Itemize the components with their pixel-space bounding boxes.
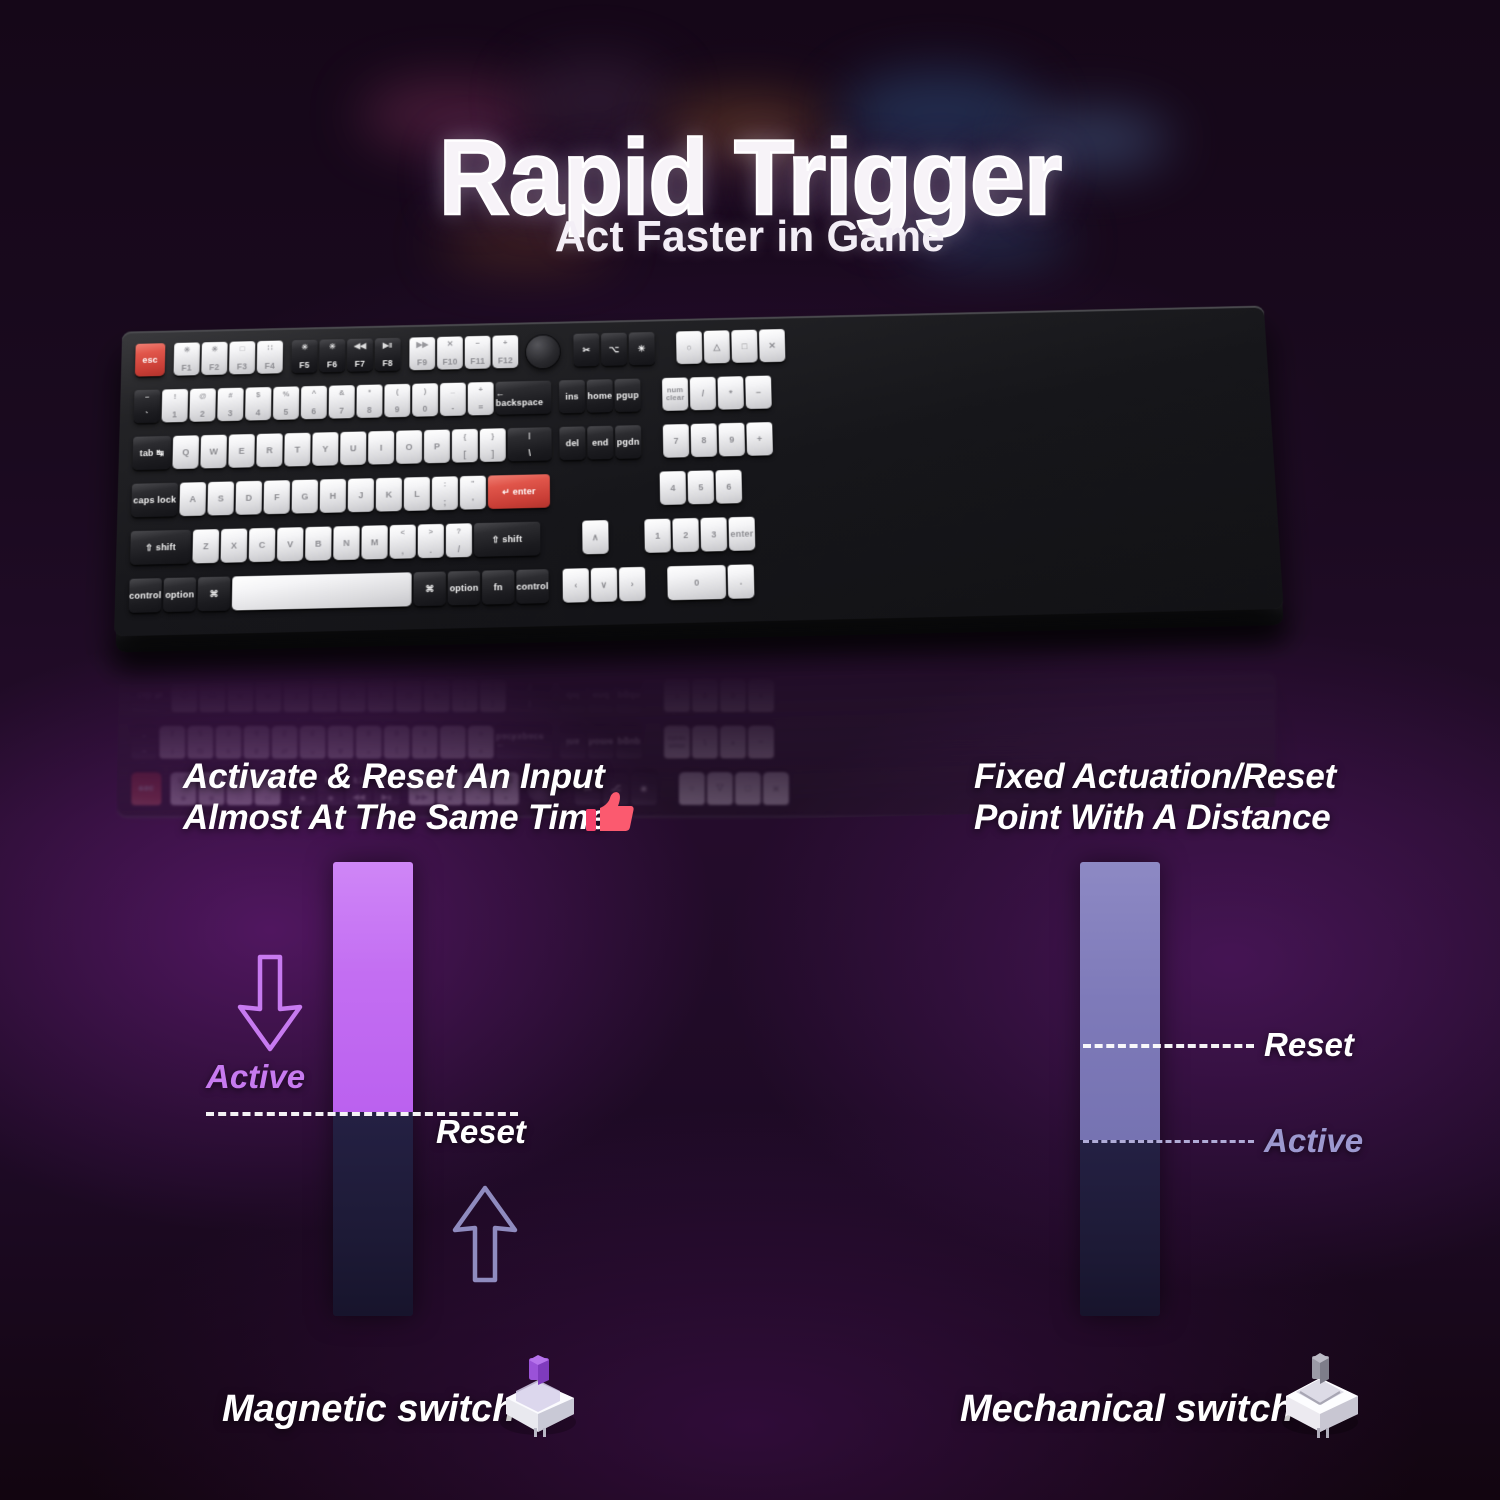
key-legend-primary: △ xyxy=(713,342,720,353)
key-legend-secondary: } xyxy=(480,700,506,709)
key-legend-primary: 4 xyxy=(670,483,675,493)
key-blank[interactable]: |\ xyxy=(508,679,552,712)
key-legend-secondary: ? xyxy=(446,526,472,536)
key-legend-primary: 4 xyxy=(245,407,271,417)
key-blank[interactable]: }] xyxy=(480,679,506,712)
key-legend-primary: Y xyxy=(322,691,328,701)
key-legend-primary: Q xyxy=(181,691,188,701)
mechanical-bar-inactive-zone xyxy=(1080,1140,1160,1316)
key-legend-primary: ✂ xyxy=(583,345,591,356)
key-legend-primary: pgup xyxy=(618,737,641,747)
keyboard-keys: esc☀F1☀F2□F3∷F4☀F5☀F6◀◀F7▶‖F8▶▶F9✕F10−F1… xyxy=(128,318,1271,627)
key-legend-primary: □ xyxy=(742,341,748,351)
key-blank[interactable]: >. xyxy=(418,524,444,558)
key-f5[interactable]: ☀F5 xyxy=(291,340,317,373)
key-legend-secondary: ) xyxy=(412,386,438,395)
key-del[interactable]: del xyxy=(560,679,586,712)
key-blank[interactable]: }] xyxy=(480,428,506,462)
key-f8[interactable]: ▶‖F8 xyxy=(375,338,401,371)
key-w[interactable]: W xyxy=(200,435,227,469)
key-0[interactable]: 0 xyxy=(667,565,726,600)
key-home[interactable]: home xyxy=(587,379,613,413)
key-legend-primary: = xyxy=(468,402,494,412)
key-legend-primary: ' xyxy=(460,496,486,506)
key-legend-secondary: { xyxy=(452,432,478,441)
key-blank[interactable] xyxy=(232,572,412,610)
key-f6[interactable]: ☀F6 xyxy=(319,339,345,372)
key-legend-primary: ∨ xyxy=(601,579,608,590)
key-legend-primary: F9 xyxy=(409,357,435,367)
key-legend-primary: 2 xyxy=(187,729,213,739)
key-legend-primary: ✕ xyxy=(772,783,780,794)
key-legend-primary: F6 xyxy=(319,359,345,369)
key-blank[interactable]: + xyxy=(746,422,773,456)
key-c[interactable]: C xyxy=(249,528,276,562)
key-legend-primary: O xyxy=(405,442,412,452)
key-control[interactable]: control xyxy=(129,578,162,613)
key-f1[interactable]: ☀F1 xyxy=(174,342,200,375)
key-4[interactable]: $4 xyxy=(245,387,271,421)
key-2[interactable]: 2 xyxy=(672,518,699,552)
key-7[interactable]: 7 xyxy=(664,679,690,712)
key-legend-primary: enter xyxy=(730,529,753,539)
key-legend-primary: △ xyxy=(716,783,723,794)
key-legend-primary: A xyxy=(189,494,196,504)
key-4[interactable]: 4 xyxy=(660,471,687,505)
key-8[interactable]: *8 xyxy=(356,384,382,418)
key-6[interactable]: 6 xyxy=(715,470,742,504)
key-5[interactable]: %5 xyxy=(272,726,298,759)
key-legend-primary: ⌘ xyxy=(209,588,218,599)
key-9[interactable]: 9 xyxy=(720,679,746,712)
key-legend-primary: W xyxy=(209,447,218,457)
key-legend-primary: tab ↹ xyxy=(138,690,163,701)
key-1[interactable]: 1 xyxy=(644,519,671,553)
key-j[interactable]: J xyxy=(348,478,374,512)
mechanical-active-label: Active xyxy=(1264,1122,1363,1160)
key-legend-secondary: : xyxy=(432,479,458,488)
mechanical-reset-label: Reset xyxy=(1264,1026,1354,1064)
key-legend-primary: option xyxy=(450,583,479,594)
key-legend-primary: D xyxy=(245,493,252,503)
key-3[interactable]: 3 xyxy=(700,517,727,551)
key-8[interactable]: 8 xyxy=(692,679,718,712)
key-legend-primary: . xyxy=(740,577,743,587)
magnetic-active-label: Active xyxy=(206,1058,305,1096)
key-legend-primary: 1 xyxy=(655,531,660,541)
key-6[interactable]: ^6 xyxy=(300,726,326,759)
keyboard-image: esc☀F1☀F2□F3∷F4☀F5☀F6◀◀F7▶‖F8▶▶F9✕F10−F1… xyxy=(118,312,1388,677)
key-legend-primary: 5 xyxy=(273,406,299,416)
key-legend-primary: U xyxy=(350,443,357,453)
key-blank[interactable]: △ xyxy=(704,330,730,363)
key-legend-primary: X xyxy=(231,541,237,551)
key-option[interactable]: option xyxy=(163,577,196,612)
key-blank[interactable]: ?/ xyxy=(446,523,472,557)
key-f9[interactable]: ▶▶F9 xyxy=(409,337,435,370)
key-legend-secondary: $ xyxy=(244,747,270,756)
key-o[interactable]: O xyxy=(396,430,422,464)
key-q[interactable]: Q xyxy=(172,435,199,469)
key-pgup[interactable]: pgup xyxy=(616,725,642,758)
key-legend-primary: C xyxy=(259,540,266,550)
key-legend-primary: home xyxy=(587,391,612,401)
key-i[interactable]: I xyxy=(368,431,394,465)
key-6[interactable]: ^6 xyxy=(301,386,327,420)
key-legend-primary: \ xyxy=(508,682,552,692)
key-blank[interactable]: += xyxy=(468,726,494,759)
key-legend-primary: / xyxy=(702,389,705,399)
key-5[interactable]: 5 xyxy=(688,470,715,504)
mechanical-switch-image xyxy=(1272,1348,1368,1440)
key--shift[interactable]: ⇧ shift xyxy=(130,530,191,565)
caption-right-line2: Point With A Distance xyxy=(974,797,1394,838)
key-legend-primary: 2 xyxy=(683,530,688,540)
key-legend-primary: E xyxy=(237,691,243,701)
key-f2[interactable]: ☀F2 xyxy=(201,342,227,375)
key-z[interactable]: Z xyxy=(192,529,219,563)
key-legend-primary: O xyxy=(405,691,412,701)
key-esc[interactable]: esc xyxy=(135,343,166,376)
key-blank[interactable]: ✕ xyxy=(759,329,786,362)
key-blank[interactable]: {[ xyxy=(452,429,478,463)
key-s[interactable]: S xyxy=(207,481,234,515)
volume-knob[interactable] xyxy=(526,335,560,368)
key-blank[interactable]: += xyxy=(468,382,494,416)
key--[interactable]: _- xyxy=(440,383,466,417)
key-pgdn[interactable]: pgdn xyxy=(615,425,641,459)
key-pgup[interactable]: pgup xyxy=(614,379,640,413)
key-legend-primary: 8 xyxy=(356,729,382,739)
key--shift[interactable]: ⇧ shift xyxy=(474,522,540,557)
key-legend-secondary: | xyxy=(508,430,552,440)
key-8[interactable]: 8 xyxy=(691,423,718,457)
key-h[interactable]: H xyxy=(320,479,346,513)
key-legend-primary: numclear xyxy=(666,386,685,403)
key-blank[interactable]: ○ xyxy=(676,331,702,364)
key-blank[interactable]: ~` xyxy=(134,390,161,424)
key-blank[interactable]: ⌘ xyxy=(197,577,230,612)
mechanical-bar-active-zone xyxy=(1080,862,1160,1140)
key-g[interactable]: G xyxy=(292,480,318,514)
key-blank[interactable]: ✕ xyxy=(763,772,789,805)
key-caps-lock[interactable]: caps lock xyxy=(131,483,178,518)
key-legend-secondary: } xyxy=(480,431,506,440)
key-blank[interactable]: :; xyxy=(432,476,458,510)
arrow-up-icon xyxy=(443,1182,527,1284)
key-legend-primary: 7 xyxy=(673,436,678,446)
key-legend-primary: 6 xyxy=(300,729,326,739)
key-option[interactable]: option xyxy=(448,571,480,606)
key-legend-primary: U xyxy=(349,691,356,701)
key-blank[interactable]: ✂ xyxy=(573,333,599,366)
key-2[interactable]: @2 xyxy=(189,388,216,422)
key-legend-secondary: ! xyxy=(159,747,185,756)
key-8[interactable]: *8 xyxy=(356,726,382,759)
key-blank[interactable]: ⌥ xyxy=(601,333,627,366)
key-legend-primary: 8 xyxy=(357,404,383,414)
key-legend-primary: = xyxy=(468,729,494,739)
key-legend-primary: tab ↹ xyxy=(139,447,164,458)
key-blank[interactable]: − xyxy=(745,376,772,410)
key-legend-primary: \ xyxy=(508,447,552,458)
key-legend-secondary: ( xyxy=(384,387,410,396)
key-0[interactable]: )0 xyxy=(412,383,438,417)
key-1[interactable]: !1 xyxy=(162,389,189,423)
key--enter[interactable]: ↵ enter xyxy=(488,474,550,509)
key-enter[interactable]: enter xyxy=(728,517,755,551)
key-f[interactable]: F xyxy=(264,480,290,514)
key-legend-primary: * xyxy=(731,737,735,747)
key-pgdn[interactable]: pgdn xyxy=(616,679,642,712)
key-f4[interactable]: ∷F4 xyxy=(257,340,283,373)
key-legend-primary: 7 xyxy=(329,405,355,415)
key-3[interactable]: #3 xyxy=(215,726,241,759)
key-blank[interactable]: □ xyxy=(731,330,757,363)
key-legend-primary: ⇧ shift xyxy=(492,533,523,545)
key-legend-primary: 1 xyxy=(159,729,185,739)
key-v[interactable]: V xyxy=(277,527,304,561)
key-legend-primary: end xyxy=(592,438,609,448)
key-legend-primary: F3 xyxy=(229,361,255,371)
mechanical-travel-bar xyxy=(1080,862,1160,1316)
key-d[interactable]: D xyxy=(235,481,262,515)
key-legend-primary: 8 xyxy=(701,435,706,445)
key-f3[interactable]: □F3 xyxy=(229,341,255,374)
key-legend-secondary: _ xyxy=(440,747,466,756)
key-legend-primary: . xyxy=(418,544,444,555)
key-legend-secondary: ∷ xyxy=(257,343,283,352)
key-5[interactable]: %5 xyxy=(273,386,299,420)
key-legend-primary: ← backspace xyxy=(496,732,552,751)
key-blank[interactable]: ~` xyxy=(131,726,157,759)
key-esc[interactable]: esc xyxy=(131,772,161,805)
key-legend-primary: pgup xyxy=(616,390,639,400)
key-legend-primary: ] xyxy=(480,682,506,692)
key-4[interactable]: $4 xyxy=(244,726,270,759)
key-legend-primary: R xyxy=(265,691,272,701)
key-p[interactable]: P xyxy=(424,430,450,464)
key-legend-primary: 0 xyxy=(412,729,438,739)
key-k[interactable]: K xyxy=(376,478,402,512)
key-legend-primary: 8 xyxy=(702,691,707,701)
page-subtitle: Act Faster in Game xyxy=(30,212,1470,262)
key-end[interactable]: end xyxy=(587,426,613,460)
key-legend-primary: S xyxy=(218,493,224,503)
arrow-down-icon xyxy=(228,953,312,1055)
key-0[interactable]: )0 xyxy=(412,726,438,759)
key-legend-primary: K xyxy=(386,490,393,500)
key-legend-secondary: % xyxy=(272,747,298,756)
key-7[interactable]: 7 xyxy=(663,424,689,458)
key-legend-secondary: + xyxy=(492,338,518,347)
key-y[interactable]: Y xyxy=(312,432,338,466)
key-legend-secondary: $ xyxy=(245,390,271,399)
key-f11[interactable]: −F11 xyxy=(465,336,491,369)
key-home[interactable]: home xyxy=(588,725,614,758)
key-blank[interactable]: * xyxy=(717,376,744,410)
magnetic-bar-active-zone xyxy=(333,862,413,1112)
key-legend-primary: ins xyxy=(566,737,580,747)
key-1[interactable]: !1 xyxy=(159,726,185,759)
key-7[interactable]: &7 xyxy=(329,385,355,419)
key-legend-primary: end xyxy=(593,691,610,701)
key-legend-primary: 5 xyxy=(698,482,703,492)
magnetic-bar-inactive-zone xyxy=(333,1112,413,1316)
key-legend-primary: N xyxy=(343,538,350,548)
key-ins[interactable]: ins xyxy=(559,380,585,414)
key-legend-primary: + xyxy=(758,691,763,701)
key-legend-secondary: ▶‖ xyxy=(375,341,401,350)
key-l[interactable]: L xyxy=(404,477,430,511)
key-legend-primary: ‹ xyxy=(574,580,577,590)
key-legend-secondary: > xyxy=(418,527,444,537)
key--[interactable]: _- xyxy=(440,726,466,759)
caption-right-line1: Fixed Actuation/Reset xyxy=(974,756,1394,797)
key-tab-[interactable]: tab ↹ xyxy=(132,436,171,470)
key-legend-primary: ∧ xyxy=(592,532,599,543)
key-u[interactable]: U xyxy=(340,431,366,465)
key-x[interactable]: X xyxy=(221,528,248,562)
key-ins[interactable]: ins xyxy=(560,726,586,759)
key-legend-primary: F2 xyxy=(201,361,227,371)
key-blank[interactable]: "' xyxy=(460,476,486,510)
key-del[interactable]: del xyxy=(559,426,585,460)
key-legend-primary: R xyxy=(266,445,273,455)
key-blank[interactable]: ☀ xyxy=(629,332,655,365)
key-legend-primary: 9 xyxy=(730,691,735,701)
key-e[interactable]: E xyxy=(228,434,254,468)
key-legend-primary: 1 xyxy=(162,409,188,419)
key-legend-primary: L xyxy=(414,489,420,499)
key-blank[interactable]: ∨ xyxy=(591,568,618,603)
key-legend-primary: + xyxy=(757,434,763,444)
key-f12[interactable]: +F12 xyxy=(492,335,518,368)
key-legend-primary: 9 xyxy=(384,404,410,414)
key-legend-primary: F10 xyxy=(437,356,463,366)
key-blank[interactable]: − xyxy=(748,725,774,758)
key--backspace[interactable]: ← backspace xyxy=(496,726,552,759)
key-legend-secondary: ^ xyxy=(300,747,326,756)
key-legend-primary: 0 xyxy=(694,578,699,588)
key-legend-secondary: + xyxy=(468,747,494,756)
key-b[interactable]: B xyxy=(305,527,331,561)
key-9[interactable]: (9 xyxy=(384,384,410,418)
key-3[interactable]: #3 xyxy=(217,388,243,422)
key-num-clear[interactable]: numclear xyxy=(662,377,688,411)
key-legend-primary: F xyxy=(274,492,280,502)
key-legend-primary: 3 xyxy=(217,408,243,418)
key-blank[interactable]: . xyxy=(728,564,755,599)
key-blank[interactable]: / xyxy=(692,725,718,758)
key-legend-primary: T xyxy=(295,445,301,455)
key-legend-primary: □ xyxy=(745,784,751,794)
key-legend-primary: 3 xyxy=(711,529,716,539)
key-legend-primary: 6 xyxy=(726,482,731,492)
key-blank[interactable]: ‹ xyxy=(563,568,590,603)
key--backspace[interactable]: ← backspace xyxy=(496,381,552,415)
key-legend-primary: ` xyxy=(134,409,160,419)
key-f7[interactable]: ◀◀F7 xyxy=(347,338,373,371)
key-r[interactable]: R xyxy=(256,433,282,467)
key-legend-primary: F1 xyxy=(174,362,200,372)
key-blank[interactable]: {[ xyxy=(452,679,478,712)
key-legend-secondary: " xyxy=(460,479,486,488)
key-legend-primary: M xyxy=(371,537,379,547)
key-m[interactable]: M xyxy=(361,525,387,559)
key-legend-primary: / xyxy=(446,544,472,555)
key-legend-primary: ` xyxy=(131,729,157,739)
key-legend-secondary: _ xyxy=(440,385,466,394)
key-blank[interactable]: + xyxy=(748,679,774,712)
key-blank[interactable]: <, xyxy=(390,525,416,559)
key-end[interactable]: end xyxy=(588,679,614,712)
key-legend-primary: F4 xyxy=(257,360,283,370)
key-legend-primary: W xyxy=(208,691,217,701)
key-legend-primary: esc xyxy=(138,784,154,794)
key-blank[interactable]: △ xyxy=(707,772,733,805)
key-2[interactable]: @2 xyxy=(187,726,213,759)
key-legend-secondary: ( xyxy=(384,747,410,756)
key-legend-primary: I xyxy=(380,443,383,453)
key-a[interactable]: A xyxy=(179,482,206,516)
key-blank[interactable]: › xyxy=(619,567,646,602)
key-blank[interactable]: ⌘ xyxy=(414,572,446,607)
magnetic-switch-image xyxy=(490,1348,586,1440)
key-blank[interactable]: * xyxy=(720,725,746,758)
key-legend-primary: del xyxy=(566,438,580,448)
key-n[interactable]: N xyxy=(333,526,359,560)
key-7[interactable]: &7 xyxy=(328,726,354,759)
key-legend-primary: , xyxy=(390,545,416,556)
key-legend-primary: 2 xyxy=(189,408,215,418)
key-legend-secondary: ◀◀ xyxy=(347,341,373,350)
key-legend-primary: J xyxy=(358,490,363,500)
key-legend-primary: option xyxy=(165,589,194,600)
key-blank[interactable]: |\ xyxy=(508,427,552,461)
key-t[interactable]: T xyxy=(284,433,310,467)
key-fn[interactable]: fn xyxy=(482,570,514,605)
key-legend-primary: P xyxy=(434,691,440,701)
key-legend-primary: * xyxy=(729,388,733,398)
key-blank[interactable]: / xyxy=(690,377,716,411)
key-num-clear[interactable]: numclear xyxy=(664,725,690,758)
key-f10[interactable]: ✕F10 xyxy=(437,336,463,369)
key-legend-primary: caps lock xyxy=(133,495,176,506)
key-legend-primary: del xyxy=(566,691,580,701)
key-legend-primary: 0 xyxy=(412,403,438,413)
promo-banner: Rapid Trigger Act Faster in Game esc☀F1☀… xyxy=(0,0,1500,1500)
key-legend-primary: H xyxy=(329,491,336,501)
key-blank[interactable]: ∧ xyxy=(582,520,608,554)
key-9[interactable]: 9 xyxy=(718,423,745,457)
key-legend-primary: - xyxy=(440,729,466,739)
key-legend-secondary: ) xyxy=(412,747,438,756)
key-blank[interactable]: □ xyxy=(735,772,761,805)
magnetic-reset-label: Reset xyxy=(436,1113,526,1151)
key-legend-secondary: | xyxy=(508,700,552,709)
key-legend-primary: ✕ xyxy=(768,340,776,351)
key-9[interactable]: (9 xyxy=(384,726,410,759)
key-control[interactable]: control xyxy=(516,569,548,604)
key-legend-secondary: ✕ xyxy=(437,339,463,348)
key-legend-secondary: # xyxy=(218,391,244,400)
mechanical-reset-line xyxy=(1083,1044,1254,1048)
key-legend-secondary: * xyxy=(357,387,383,396)
key-legend-secondary: ^ xyxy=(301,389,327,398)
key-legend-primary: F12 xyxy=(492,355,518,365)
key-legend-primary: F5 xyxy=(292,359,318,369)
